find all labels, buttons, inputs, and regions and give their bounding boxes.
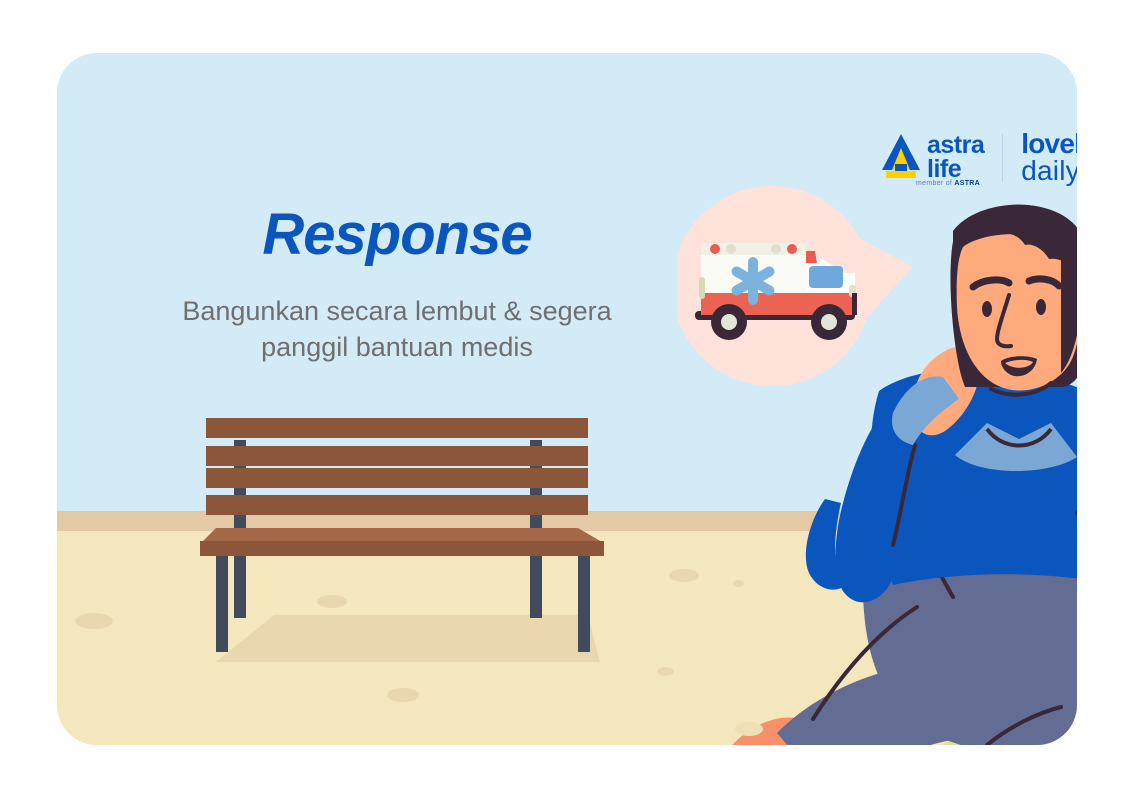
sand-speck <box>75 613 113 629</box>
astra-member-note: member of ASTRA <box>916 180 980 187</box>
lovelife-word: lovelife <box>1021 131 1077 158</box>
lovelife-daily-logo: lovelife daily <box>1021 131 1077 184</box>
astra-life-wordmark: astra life <box>927 134 984 182</box>
astra-a-triangle-logo-icon <box>882 134 920 178</box>
astra-word-line2: life <box>927 158 984 182</box>
man-calling-head <box>950 205 1077 395</box>
sand-speck <box>387 688 419 702</box>
daily-word: daily <box>1021 158 1077 185</box>
brand-lockup: astra life member of ASTRA lovelife dail… <box>882 131 1077 184</box>
people-illustration <box>657 173 1077 745</box>
page-subtitle: Bangunkan secara lembut & segera panggil… <box>127 293 667 366</box>
astra-member-prefix: member of <box>916 180 954 187</box>
page-title: Response <box>217 206 577 264</box>
brand-divider <box>1002 134 1003 182</box>
astra-member-name: ASTRA <box>954 180 980 187</box>
astra-life-logo: astra life member of ASTRA <box>882 134 984 182</box>
park-bench <box>188 410 628 670</box>
illustration-card: Response Bangunkan secara lembut & seger… <box>57 53 1077 745</box>
screenshot-root: Response Bangunkan secara lembut & seger… <box>0 0 1134 796</box>
